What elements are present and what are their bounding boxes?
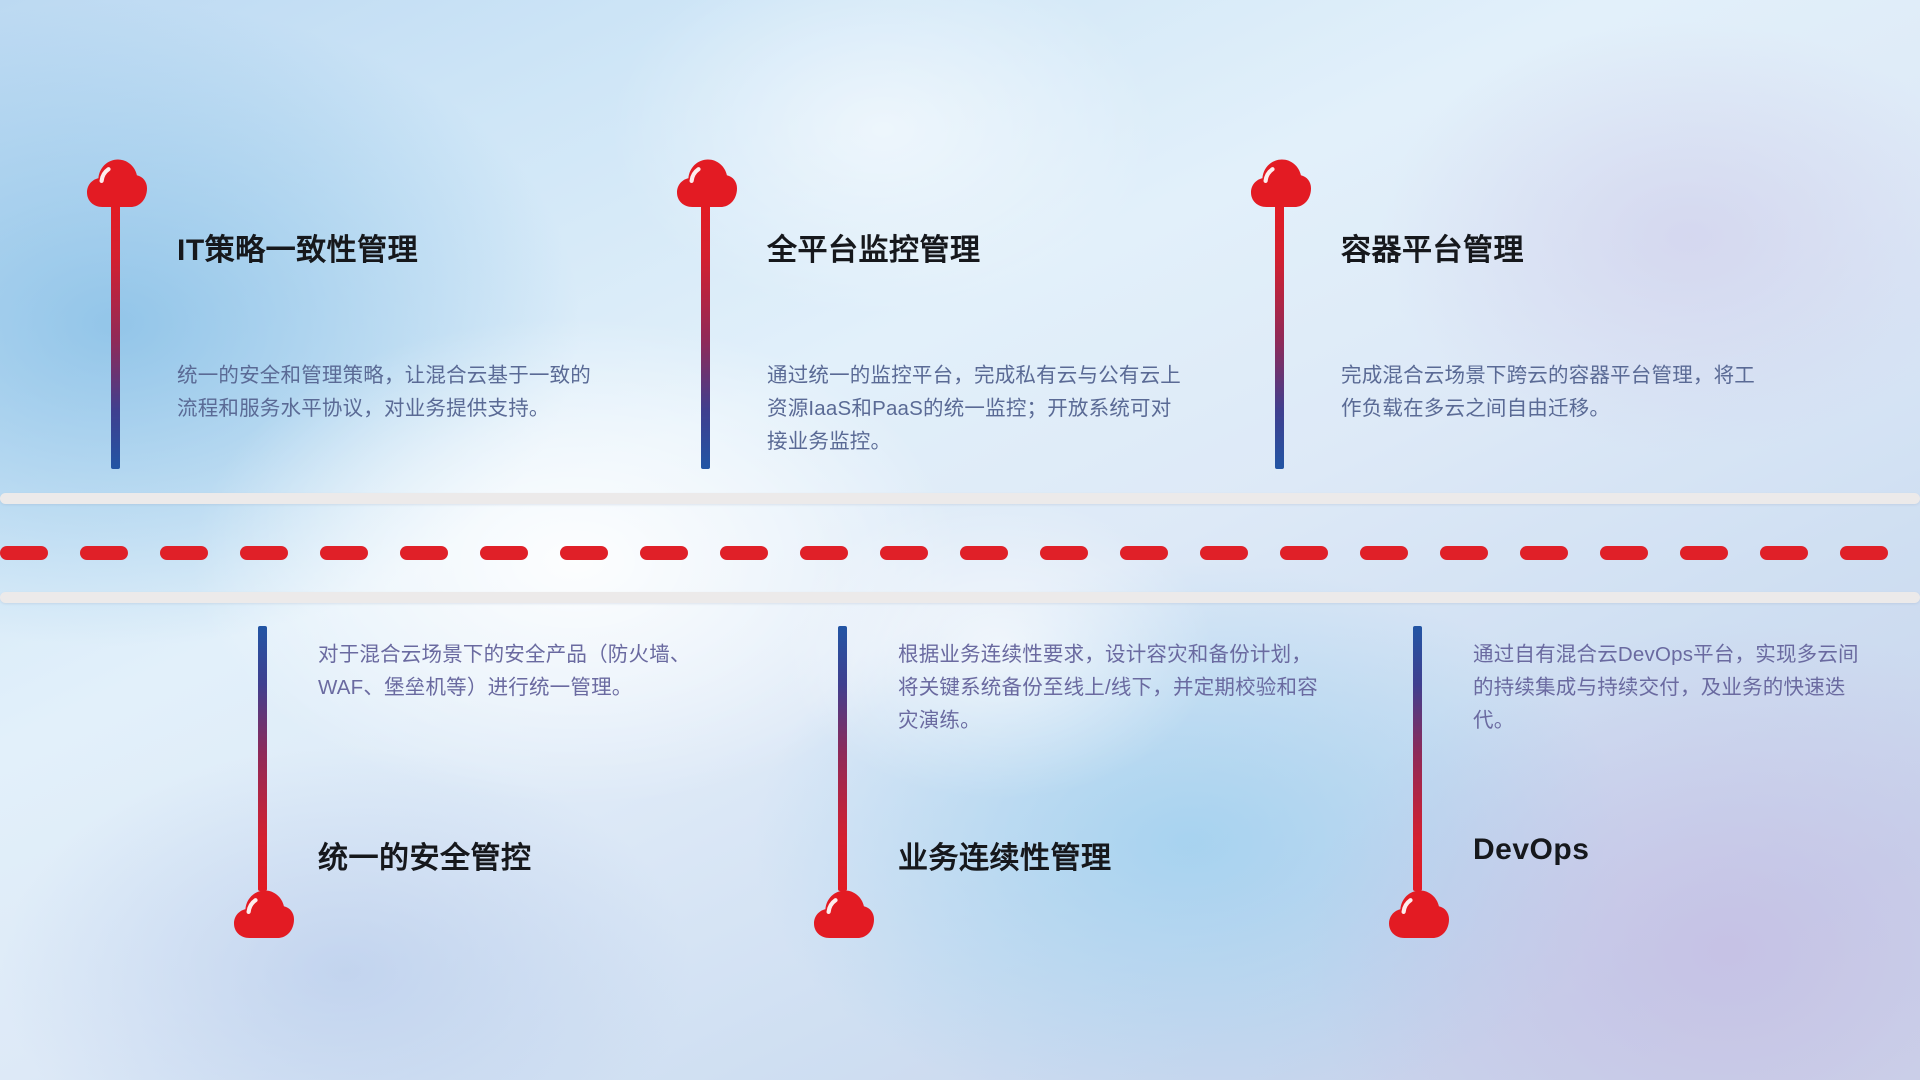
pole-connector — [111, 204, 120, 469]
pole-connector — [838, 626, 847, 891]
road-dash — [480, 546, 528, 560]
road-dashed-center-line — [0, 546, 1920, 560]
road-dash — [1760, 546, 1808, 560]
pole-connector — [258, 626, 267, 891]
road-dash — [1200, 546, 1248, 560]
road-dash — [800, 546, 848, 560]
road-dash — [0, 546, 48, 560]
road-dash — [880, 546, 928, 560]
pillar-title: IT策略一致性管理 — [177, 225, 418, 269]
pole-connector — [1413, 626, 1422, 891]
road-dash — [160, 546, 208, 560]
road-dash — [1040, 546, 1088, 560]
road-dash — [720, 546, 768, 560]
road-dash — [1840, 546, 1888, 560]
pillar-description: 通过统一的监控平台，完成私有云与公有云上资源IaaS和PaaS的统一监控；开放系… — [767, 359, 1187, 459]
road-line-upper — [0, 493, 1920, 504]
pillar-title: 全平台监控管理 — [767, 225, 981, 269]
cloud-icon — [1388, 888, 1450, 940]
cloud-icon — [813, 888, 875, 940]
pillar-description: 完成混合云场景下跨云的容器平台管理，将工作负载在多云之间自由迁移。 — [1341, 359, 1761, 425]
road-dash — [1360, 546, 1408, 560]
road-dash — [1600, 546, 1648, 560]
road-dash — [1280, 546, 1328, 560]
road-dash — [80, 546, 128, 560]
road-dash — [1120, 546, 1168, 560]
road-dash — [240, 546, 288, 560]
pillar-title: 容器平台管理 — [1341, 225, 1524, 269]
pillar-title: 业务连续性管理 — [898, 833, 1112, 877]
pole-connector — [1275, 204, 1284, 469]
pillar-description: 通过自有混合云DevOps平台，实现多云间的持续集成与持续交付，及业务的快速迭代… — [1473, 638, 1873, 738]
road-dash — [1440, 546, 1488, 560]
pillar-description: 统一的安全和管理策略，让混合云基于一致的流程和服务水平协议，对业务提供支持。 — [177, 359, 597, 425]
road-dash — [960, 546, 1008, 560]
cloud-icon — [233, 888, 295, 940]
cloud-icon — [676, 157, 738, 209]
road-dash — [400, 546, 448, 560]
cloud-icon — [1250, 157, 1312, 209]
pole-connector — [701, 204, 710, 469]
pillar-description: 对于混合云场景下的安全产品（防火墙、WAF、堡垒机等）进行统一管理。 — [318, 638, 738, 704]
road-line-lower — [0, 592, 1920, 603]
pillar-description: 根据业务连续性要求，设计容灾和备份计划，将关键系统备份至线上/线下，并定期校验和… — [898, 638, 1318, 738]
infographic-canvas: IT策略一致性管理 统一的安全和管理策略，让混合云基于一致的流程和服务水平协议，… — [0, 0, 1920, 1080]
road-dash — [1680, 546, 1728, 560]
road-dash — [320, 546, 368, 560]
pillar-title: DevOps — [1473, 833, 1589, 867]
road-dash — [1520, 546, 1568, 560]
cloud-icon — [86, 157, 148, 209]
road-dash — [640, 546, 688, 560]
road-dash — [560, 546, 608, 560]
pillar-title: 统一的安全管控 — [318, 833, 532, 877]
